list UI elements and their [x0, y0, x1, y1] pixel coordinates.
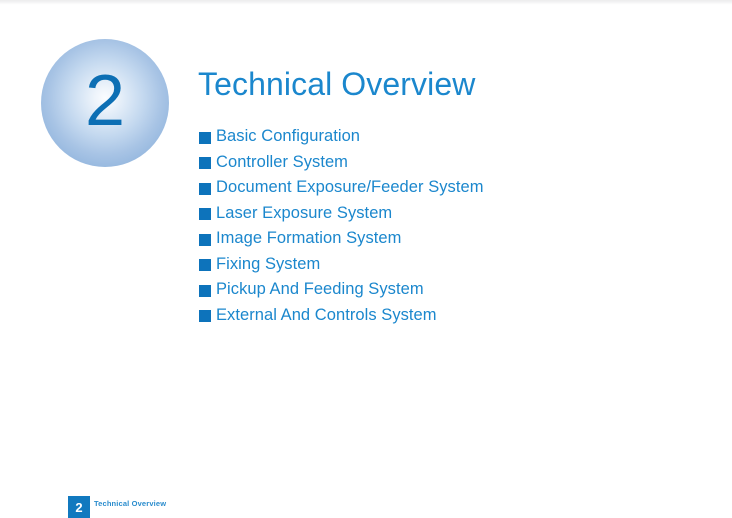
- list-item-label: External And Controls System: [216, 306, 437, 325]
- square-bullet-icon: [199, 285, 211, 297]
- list-item-label: Image Formation System: [216, 229, 401, 248]
- square-bullet-icon: [199, 259, 211, 271]
- square-bullet-icon: [199, 132, 211, 144]
- footer-title: Technical Overview: [94, 499, 166, 509]
- square-bullet-icon: [199, 157, 211, 169]
- square-bullet-icon: [199, 183, 211, 195]
- list-item-label: Document Exposure/Feeder System: [216, 178, 484, 197]
- list-item: Basic Configuration: [199, 124, 484, 150]
- list-item-label: Pickup And Feeding System: [216, 280, 424, 299]
- list-item: Document Exposure/Feeder System: [199, 175, 484, 201]
- slide-footer: 2 Technical Overview: [0, 496, 732, 518]
- chapter-number: 2: [41, 39, 169, 167]
- list-item: Controller System: [199, 150, 484, 176]
- square-bullet-icon: [199, 310, 211, 322]
- chapter-circle-badge: 2: [41, 39, 169, 167]
- list-item: Laser Exposure System: [199, 201, 484, 227]
- list-item-label: Controller System: [216, 153, 348, 172]
- list-item-label: Fixing System: [216, 255, 320, 274]
- agenda-list: Basic Configuration Controller System Do…: [199, 124, 484, 328]
- footer-page-number: 2: [75, 501, 82, 514]
- slide-canvas: 2 Technical Overview Basic Configuration…: [0, 0, 732, 518]
- list-item: External And Controls System: [199, 303, 484, 329]
- square-bullet-icon: [199, 208, 211, 220]
- list-item-label: Basic Configuration: [216, 127, 360, 146]
- list-item: Pickup And Feeding System: [199, 277, 484, 303]
- list-item-label: Laser Exposure System: [216, 204, 392, 223]
- square-bullet-icon: [199, 234, 211, 246]
- footer-page-badge: 2: [68, 496, 90, 518]
- list-item: Fixing System: [199, 252, 484, 278]
- list-item: Image Formation System: [199, 226, 484, 252]
- top-edge-band: [0, 0, 732, 5]
- page-title: Technical Overview: [198, 63, 475, 105]
